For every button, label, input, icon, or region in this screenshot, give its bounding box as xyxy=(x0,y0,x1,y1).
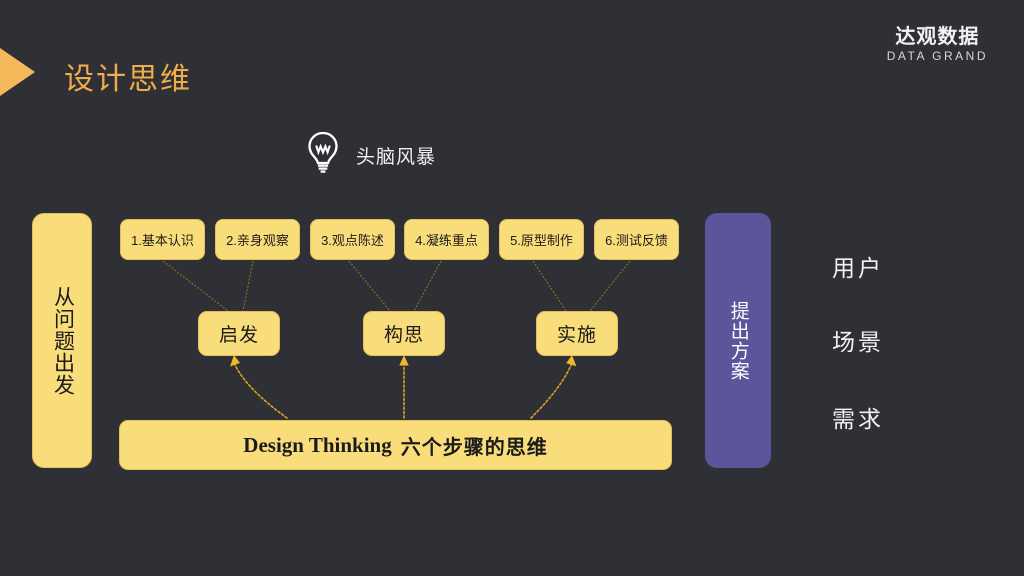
lightbulb-icon xyxy=(306,130,340,181)
step-box-6[interactable]: 6.测试反馈 xyxy=(594,219,679,260)
step-box-4-label: 4.凝练重点 xyxy=(415,230,478,249)
step-box-3-label: 3.观点陈述 xyxy=(321,230,384,249)
start-box-label: 从问题出发 xyxy=(48,286,77,396)
proposal-box[interactable]: 提出方案 xyxy=(705,213,771,468)
step-box-3[interactable]: 3.观点陈述 xyxy=(310,219,395,260)
step-box-5[interactable]: 5.原型制作 xyxy=(499,219,584,260)
brand-logo: 达观数据 DATA GRAND xyxy=(887,26,988,64)
brainstorm-group: 头脑风暴 xyxy=(306,130,436,181)
step-box-2[interactable]: 2.亲身观察 xyxy=(215,219,300,260)
slide-canvas: 设计思维 达观数据 DATA GRAND 头脑风暴 xyxy=(0,0,1024,576)
phase-box-2-label: 构思 xyxy=(384,320,424,347)
step-box-1[interactable]: 1.基本认识 xyxy=(120,219,205,260)
step-box-1-label: 1.基本认识 xyxy=(131,230,194,249)
step-box-2-label: 2.亲身观察 xyxy=(226,230,289,249)
start-box[interactable]: 从问题出发 xyxy=(32,213,92,468)
proposal-box-label: 提出方案 xyxy=(724,301,752,381)
summary-banner[interactable]: Design Thinking 六个步骤的思维 xyxy=(119,420,672,470)
phase-box-2[interactable]: 构思 xyxy=(363,311,445,356)
keyword-scenario: 场景 xyxy=(832,323,884,357)
summary-chinese-text: 六个步骤的思维 xyxy=(401,431,548,460)
brainstorm-label: 头脑风暴 xyxy=(356,142,436,169)
phase-box-1-label: 启发 xyxy=(219,320,259,347)
phase-box-1[interactable]: 启发 xyxy=(198,311,280,356)
logo-cn-text: 达观数据 xyxy=(887,26,988,48)
keyword-user: 用户 xyxy=(832,249,884,283)
step-box-5-label: 5.原型制作 xyxy=(510,230,573,249)
step-box-4[interactable]: 4.凝练重点 xyxy=(404,219,489,260)
keyword-demand: 需求 xyxy=(832,400,884,434)
header-arrow-icon xyxy=(0,48,35,96)
page-title: 设计思维 xyxy=(64,54,192,98)
logo-en-text: DATA GRAND xyxy=(887,50,988,63)
phase-box-3-label: 实施 xyxy=(557,320,597,347)
summary-english-text: Design Thinking xyxy=(243,433,391,458)
step-box-6-label: 6.测试反馈 xyxy=(605,230,668,249)
phase-box-3[interactable]: 实施 xyxy=(536,311,618,356)
